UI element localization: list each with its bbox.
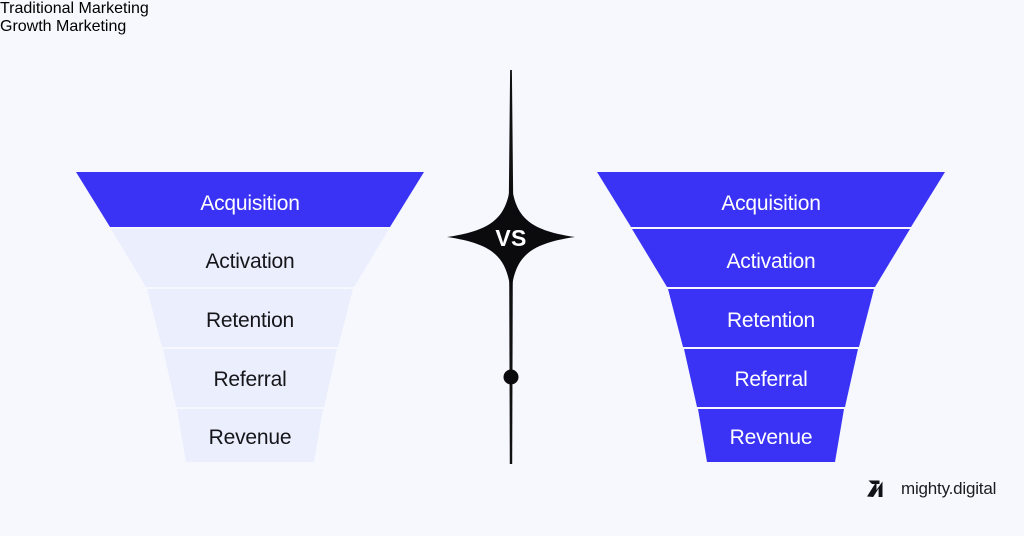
traditional-marketing-funnel: Acquisition Activation Retention Referra… [76, 172, 424, 465]
page-title-traditional: Traditional Marketing [0, 0, 380, 18]
mighty-m-icon [866, 479, 892, 499]
brand-logo[interactable]: mighty.digital [866, 477, 996, 501]
funnel-segment-retention-left[interactable] [147, 289, 353, 347]
brand-logo-text: mighty.digital [901, 479, 996, 499]
divider-dot-icon [504, 370, 519, 385]
funnel-segment-referral-left[interactable] [163, 349, 337, 407]
funnel-segment-revenue-right[interactable] [698, 409, 844, 462]
page-title-growth: Growth Marketing [0, 18, 360, 36]
funnel-segment-revenue-left[interactable] [177, 409, 323, 462]
funnel-segment-retention-right[interactable] [668, 289, 874, 347]
funnel-segment-activation-right[interactable] [632, 229, 910, 287]
versus-divider: VS [438, 60, 584, 475]
funnel-segment-activation-left[interactable] [111, 229, 389, 287]
funnel-segment-referral-right[interactable] [684, 349, 858, 407]
growth-marketing-funnel: Acquisition Activation Retention Referra… [597, 172, 945, 465]
versus-label: VS [438, 225, 584, 252]
versus-graphic [438, 60, 584, 475]
funnel-comparison-infographic: Traditional Marketing Growth Marketing A… [0, 0, 1024, 536]
funnel-shape-left [76, 172, 424, 465]
funnel-shape-right [597, 172, 945, 465]
funnel-segment-acquisition-left[interactable] [76, 172, 424, 227]
funnel-segment-acquisition-right[interactable] [597, 172, 945, 227]
